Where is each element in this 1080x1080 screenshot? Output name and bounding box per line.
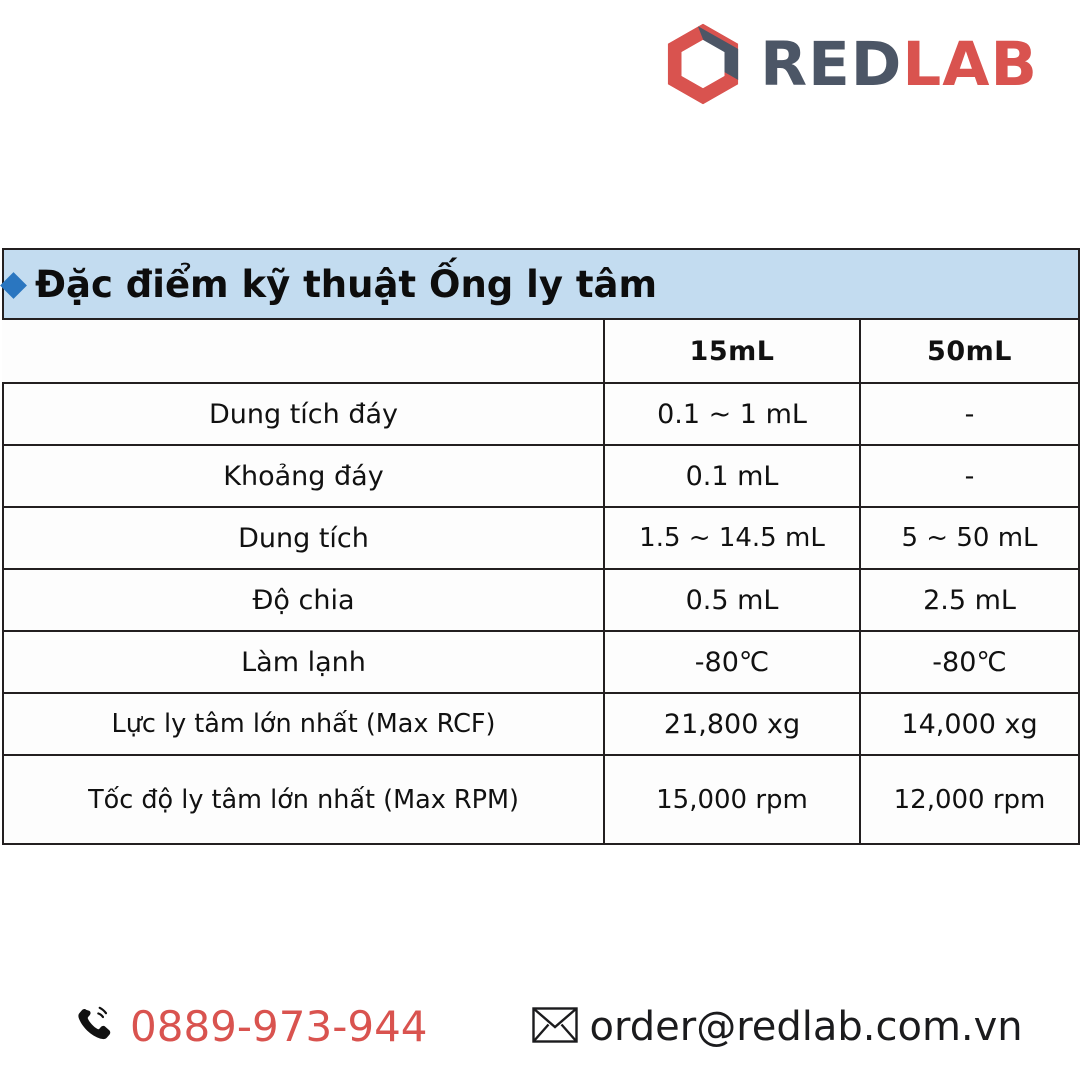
phone-ringing-icon xyxy=(74,1003,118,1051)
row-label: Làm lạnh xyxy=(3,631,604,693)
row-value-50ml: 2.5 mL xyxy=(860,569,1079,631)
row-label: Dung tích xyxy=(3,507,604,569)
email-contact[interactable]: order@redlab.com.vn xyxy=(532,1007,1023,1047)
phone-contact[interactable]: 0889-973-944 xyxy=(74,1003,428,1051)
logo-wordmark: REDLAB xyxy=(760,34,1038,95)
row-label: Khoảng đáy xyxy=(3,445,604,507)
table-row: Dung tích đáy 0.1 ~ 1 mL - xyxy=(3,383,1079,445)
table-title-cell: Đặc điểm kỹ thuật Ống ly tâm xyxy=(3,249,1079,319)
header-cell-empty xyxy=(3,319,604,383)
table-row: Dung tích 1.5 ~ 14.5 mL 5 ~ 50 mL xyxy=(3,507,1079,569)
row-value-15ml: 0.1 ~ 1 mL xyxy=(604,383,860,445)
diamond-bullet-icon xyxy=(0,272,27,299)
logo-word-lab: LAB xyxy=(902,29,1038,100)
row-value-50ml: - xyxy=(860,383,1079,445)
table-header-row: 15mL 50mL xyxy=(3,319,1079,383)
header-cell-15ml: 15mL xyxy=(604,319,860,383)
contact-footer: 0889-973-944 order@redlab.com.vn xyxy=(0,992,1080,1062)
hexagon-logo-icon xyxy=(660,21,746,107)
row-label: Lực ly tâm lớn nhất (Max RCF) xyxy=(3,693,604,755)
table-row: Độ chia 0.5 mL 2.5 mL xyxy=(3,569,1079,631)
logo-word-red: RED xyxy=(760,29,902,100)
table-row: Lực ly tâm lớn nhất (Max RCF) 21,800 xg … xyxy=(3,693,1079,755)
row-value-15ml: -80℃ xyxy=(604,631,860,693)
row-label: Độ chia xyxy=(3,569,604,631)
row-value-50ml: 12,000 rpm xyxy=(860,755,1079,844)
table-title-row: Đặc điểm kỹ thuật Ống ly tâm xyxy=(3,249,1079,319)
row-label: Tốc độ ly tâm lớn nhất (Max RPM) xyxy=(3,755,604,844)
table-row: Làm lạnh -80℃ -80℃ xyxy=(3,631,1079,693)
specification-table: Đặc điểm kỹ thuật Ống ly tâm 15mL 50mL D… xyxy=(2,248,1080,845)
envelope-icon xyxy=(532,1007,578,1047)
spec-table-container: Đặc điểm kỹ thuật Ống ly tâm 15mL 50mL D… xyxy=(2,248,1078,845)
row-value-50ml: 5 ~ 50 mL xyxy=(860,507,1079,569)
table-row: Tốc độ ly tâm lớn nhất (Max RPM) 15,000 … xyxy=(3,755,1079,844)
header-cell-50ml: 50mL xyxy=(860,319,1079,383)
row-value-15ml: 15,000 rpm xyxy=(604,755,860,844)
brand-header: REDLAB xyxy=(0,14,1080,114)
row-value-15ml: 0.1 mL xyxy=(604,445,860,507)
row-value-50ml: 14,000 xg xyxy=(860,693,1079,755)
row-label: Dung tích đáy xyxy=(3,383,604,445)
table-row: Khoảng đáy 0.1 mL - xyxy=(3,445,1079,507)
email-address[interactable]: order@redlab.com.vn xyxy=(590,1007,1023,1047)
row-value-15ml: 21,800 xg xyxy=(604,693,860,755)
phone-number[interactable]: 0889-973-944 xyxy=(130,1006,428,1048)
redlab-logo: REDLAB xyxy=(660,21,1038,107)
row-value-15ml: 0.5 mL xyxy=(604,569,860,631)
row-value-50ml: - xyxy=(860,445,1079,507)
table-title: Đặc điểm kỹ thuật Ống ly tâm xyxy=(35,266,657,303)
row-value-15ml: 1.5 ~ 14.5 mL xyxy=(604,507,860,569)
row-value-50ml: -80℃ xyxy=(860,631,1079,693)
